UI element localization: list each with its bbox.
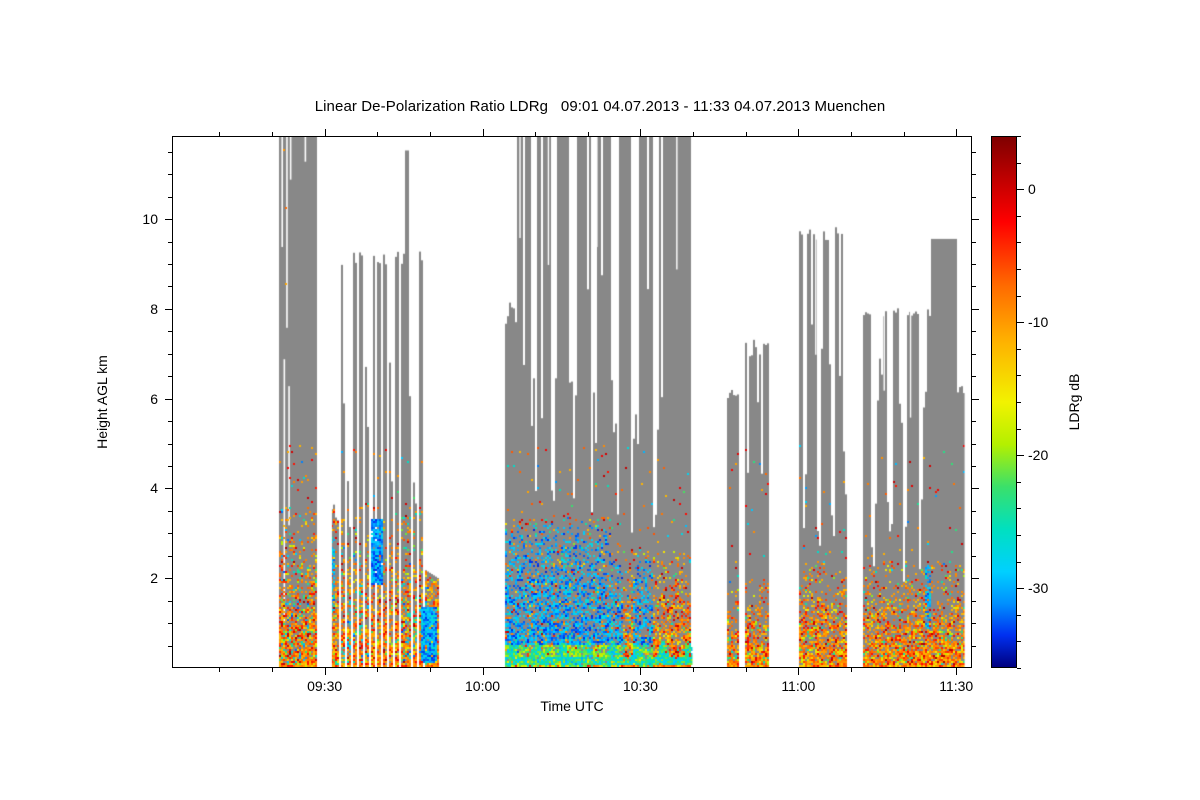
x-axis-title: Time UTC [172, 698, 972, 714]
axis-tick [272, 132, 273, 136]
axis-tick [168, 421, 172, 422]
axis-tick [972, 309, 979, 310]
colorbar-tick-minor [1017, 216, 1021, 217]
axis-tick [972, 623, 976, 624]
axis-tick [972, 376, 976, 377]
axis-tick [165, 399, 172, 400]
axis-tick [972, 466, 976, 467]
axis-tick [693, 668, 694, 672]
axis-tick [168, 646, 172, 647]
colorbar-tick-minor [1017, 668, 1021, 669]
axis-tick [588, 132, 589, 136]
axis-tick [972, 354, 976, 355]
axis-tick [168, 533, 172, 534]
axis-tick [272, 668, 273, 672]
axis-tick [483, 129, 484, 136]
colorbar-tick [1017, 322, 1024, 323]
axis-tick [851, 668, 852, 672]
colorbar-tick-minor [1017, 429, 1021, 430]
figure-canvas: Linear De-Polarization Ratio LDRg 09:01 … [0, 0, 1200, 800]
axis-tick [904, 668, 905, 672]
axis-tick [588, 668, 589, 672]
axis-tick [972, 219, 979, 220]
axis-tick [483, 668, 484, 675]
axis-tick [168, 444, 172, 445]
colorbar-tick-minor [1017, 375, 1021, 376]
axis-tick [535, 132, 536, 136]
axis-tick [904, 132, 905, 136]
y-tick-label: 10 [142, 211, 158, 227]
colorbar-title: LDRg dB [1066, 374, 1082, 431]
axis-tick [972, 399, 979, 400]
axis-tick [168, 354, 172, 355]
axis-tick [972, 286, 976, 287]
axis-tick [219, 132, 220, 136]
axis-tick [168, 174, 172, 175]
axis-tick [972, 331, 976, 332]
axis-tick [377, 668, 378, 672]
colorbar-ticks: 0-10-20-30 [991, 136, 1017, 668]
axis-tick [972, 601, 976, 602]
axis-tick [168, 511, 172, 512]
axis-tick [851, 132, 852, 136]
axis-tick [746, 132, 747, 136]
axis-tick [168, 331, 172, 332]
axis-tick [168, 286, 172, 287]
axis-tick [972, 421, 976, 422]
y-tick-label: 6 [150, 391, 158, 407]
axis-tick [168, 556, 172, 557]
axis-tick [535, 668, 536, 672]
axis-tick [377, 132, 378, 136]
y-tick-label: 8 [150, 301, 158, 317]
axis-tick [168, 466, 172, 467]
axis-tick [168, 376, 172, 377]
axis-tick [972, 556, 976, 557]
axis-tick [165, 219, 172, 220]
axis-tick [165, 309, 172, 310]
x-tick-label: 10:30 [623, 678, 658, 694]
colorbar-tick-minor [1017, 562, 1021, 563]
axis-tick [640, 129, 641, 136]
colorbar-tick-minor [1017, 163, 1021, 164]
axis-tick [972, 488, 979, 489]
axis-ticks: 09:3010:0010:3011:0011:30246810 [172, 136, 972, 668]
axis-tick [972, 264, 976, 265]
axis-tick [168, 601, 172, 602]
colorbar-tick-minor [1017, 136, 1021, 137]
colorbar-tick-minor [1017, 296, 1021, 297]
axis-tick [972, 197, 976, 198]
axis-tick [972, 646, 976, 647]
colorbar-tick-minor [1017, 641, 1021, 642]
x-tick-label: 11:00 [781, 678, 815, 694]
axis-tick [972, 578, 979, 579]
colorbar-tick-minor [1017, 269, 1021, 270]
chart-title: Linear De-Polarization Ratio LDRg 09:01 … [0, 98, 1200, 115]
axis-tick [168, 264, 172, 265]
axis-tick [165, 488, 172, 489]
axis-tick [972, 444, 976, 445]
axis-tick [972, 533, 976, 534]
axis-tick [956, 129, 957, 136]
colorbar-tick-minor [1017, 402, 1021, 403]
colorbar-tick-minor [1017, 242, 1021, 243]
colorbar-tick-label: -20 [1028, 447, 1048, 463]
axis-tick [972, 242, 976, 243]
axis-tick [798, 668, 799, 675]
colorbar-tick-minor [1017, 349, 1021, 350]
axis-tick [746, 668, 747, 672]
axis-tick [168, 197, 172, 198]
axis-tick [972, 511, 976, 512]
axis-tick [640, 668, 641, 675]
colorbar-tick [1017, 588, 1024, 589]
axis-tick [972, 152, 976, 153]
colorbar-tick-minor [1017, 615, 1021, 616]
x-tick-label: 10:00 [465, 678, 500, 694]
axis-tick [430, 668, 431, 672]
colorbar-tick-minor [1017, 482, 1021, 483]
colorbar-tick [1017, 455, 1024, 456]
axis-tick [168, 152, 172, 153]
x-tick-label: 11:30 [939, 678, 973, 694]
axis-tick [956, 668, 957, 675]
axis-tick [430, 132, 431, 136]
axis-tick [798, 129, 799, 136]
axis-tick [325, 668, 326, 675]
colorbar-tick-minor [1017, 535, 1021, 536]
colorbar-tick-label: 0 [1028, 181, 1036, 197]
axis-tick [168, 623, 172, 624]
colorbar-tick-label: -10 [1028, 314, 1048, 330]
colorbar-tick-label: -30 [1028, 580, 1048, 596]
axis-tick [168, 242, 172, 243]
y-axis-title: Height AGL km [94, 355, 110, 449]
axis-tick [219, 668, 220, 672]
x-tick-label: 09:30 [307, 678, 342, 694]
y-tick-label: 4 [150, 480, 158, 496]
colorbar-tick-minor [1017, 508, 1021, 509]
colorbar-tick [1017, 189, 1024, 190]
axis-tick [693, 132, 694, 136]
y-tick-label: 2 [150, 570, 158, 586]
axis-tick [165, 578, 172, 579]
axis-tick [325, 129, 326, 136]
axis-tick [972, 174, 976, 175]
